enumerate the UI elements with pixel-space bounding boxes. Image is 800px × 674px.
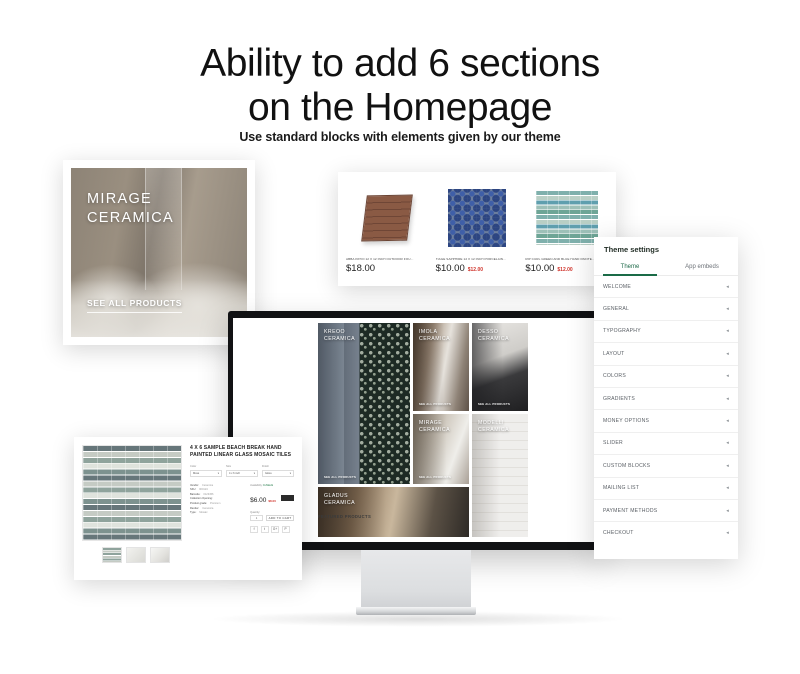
product-old-price: $12.00 (557, 267, 572, 273)
collection-title-line-1: KREOO (324, 329, 355, 336)
collection-title-line-1: DESSO (478, 329, 509, 336)
product-info: 4 X 6 SAMPLE BEACH BREAK HAND PAINTED LI… (190, 445, 294, 572)
collection-title-line-2: CERAMICA (419, 427, 450, 434)
collection-title: MODELLI CERAMICA (478, 420, 509, 434)
product-price-value: $18.00 (346, 263, 375, 274)
variant-value: Moss (193, 472, 199, 475)
hero-title-line-2: CERAMICA (87, 209, 174, 228)
collection-title-line-2: CERAMICA (324, 336, 355, 343)
variant-label: Color (190, 465, 222, 468)
headline-line-1: Ability to add 6 sections (0, 42, 800, 86)
variant-value: Gloss (265, 472, 272, 475)
collection-title: GLADUS CERAMICA (324, 493, 355, 507)
color-swatch[interactable] (281, 495, 294, 501)
variant-select-box[interactable]: 4 x 6 inch ▾ (226, 470, 258, 477)
settings-row-label: CUSTOM BLOCKS (603, 463, 650, 469)
facebook-icon[interactable]: f (250, 526, 258, 533)
settings-row-label: MAILING LIST (603, 485, 639, 491)
chevron-icon: ◂ (726, 284, 729, 290)
variant-select-box[interactable]: Moss ▾ (190, 470, 222, 477)
blue-mosaic-tile-icon (448, 189, 506, 247)
collection-tile-kreoo[interactable]: KREOO CERAMICA SEE ALL PRODUCTS (318, 323, 410, 484)
price-group: $6.00$8.00 (250, 489, 276, 507)
product-detail-card: 4 X 6 SAMPLE BEACH BREAK HAND PAINTED LI… (74, 437, 302, 580)
collection-title-line-1: IMOLA (419, 329, 450, 336)
product-image (346, 182, 429, 254)
product-body: Vendor:Ceramica SKU:000124 Barcode:01234… (190, 484, 294, 533)
collection-title-line-2: CERAMICA (419, 336, 450, 343)
promo-stage: Ability to add 6 sections on the Homepag… (0, 0, 800, 674)
settings-row-label: CHECKOUT (603, 530, 634, 536)
availability-row: Availability: In Stock (250, 484, 294, 487)
settings-row-general[interactable]: GENERAL◂ (594, 298, 738, 320)
settings-row-label: GENERAL (603, 306, 629, 312)
product-price: $18.00 (346, 263, 429, 274)
chevron-icon: ◂ (726, 418, 729, 424)
product-detail-price: $6.00 (250, 497, 266, 504)
variant-select-size[interactable]: Size 4 x 6 inch ▾ (226, 465, 258, 477)
theme-settings-panel: Theme settings Theme App embeds WELCOME◂… (594, 237, 738, 559)
collection-title: IMOLA CERAMICA (419, 329, 450, 343)
spec-row: Type:Mosaic (190, 511, 244, 516)
theme-settings-title: Theme settings (594, 237, 738, 259)
collection-see-all-link[interactable]: SEE ALL PRODUCTS (419, 475, 451, 479)
product-price: $10.00$12.00 (436, 263, 519, 274)
chevron-icon: ◂ (726, 463, 729, 469)
product-price-value: $10.00 (436, 263, 465, 274)
collection-title-line-2: CERAMICA (478, 427, 509, 434)
quantity-value: 1 (256, 516, 258, 520)
settings-row-gradients[interactable]: GRADIENTS◂ (594, 388, 738, 410)
featured-products-heading: FEATURED PRODUCTS (318, 514, 371, 519)
teal-glass-tile-icon (536, 191, 598, 245)
availability-value: In Stock (263, 484, 273, 487)
product-thumbnail[interactable] (102, 547, 122, 563)
theme-settings-list: WELCOME◂ GENERAL◂ TYPOGRAPHY◂ LAYOUT◂ CO… (594, 276, 738, 545)
settings-row-money-options[interactable]: MONEY OPTIONS◂ (594, 410, 738, 432)
variant-select-finish[interactable]: Finish Gloss ▾ (262, 465, 294, 477)
settings-row-checkout[interactable]: CHECKOUT◂ (594, 522, 738, 544)
google-plus-icon[interactable]: G+ (271, 526, 279, 533)
collection-grid: KREOO CERAMICA SEE ALL PRODUCTS IMOLA CE… (318, 323, 526, 507)
collection-title: KREOO CERAMICA (324, 329, 355, 343)
social-share-buttons: f t G+ P (250, 526, 294, 533)
settings-row-slider[interactable]: SLIDER◂ (594, 433, 738, 455)
hero-title-line-1: MIRAGE (87, 190, 174, 209)
chevron-down-icon: ▾ (290, 472, 291, 475)
collection-see-all-link[interactable]: SEE ALL PRODUCTS (419, 402, 451, 406)
product-variant-selects: Color Moss ▾ Size 4 x 6 inch ▾ Finish (190, 465, 294, 477)
variant-select-box[interactable]: Gloss ▾ (262, 470, 294, 477)
theme-settings-tabs: Theme App embeds (594, 259, 738, 276)
chevron-icon: ◂ (726, 373, 729, 379)
settings-row-typography[interactable]: TYPOGRAPHY◂ (594, 321, 738, 343)
variant-label: Finish (262, 465, 294, 468)
monitor-stand-base (356, 607, 476, 615)
product-card[interactable]: ABBA PATIO 12 X 12 INCH OUTDOOR FOU... $… (346, 182, 429, 280)
variant-label: Size (226, 465, 258, 468)
collection-tile-mirage[interactable]: MIRAGE CERAMICA SEE ALL PRODUCTS (413, 414, 469, 484)
tab-app-embeds[interactable]: App embeds (666, 259, 738, 275)
chevron-icon: ◂ (726, 351, 729, 357)
hero-banner-image: MIRAGE CERAMICA SEE ALL PRODUCTS (71, 168, 247, 337)
chevron-icon: ◂ (726, 530, 729, 536)
product-image (436, 182, 519, 254)
chevron-icon: ◂ (726, 306, 729, 312)
product-gallery (82, 445, 182, 572)
price-row: $6.00$8.00 (250, 489, 294, 507)
monitor-stand-neck (361, 550, 471, 609)
product-detail-old-price: $8.00 (268, 499, 276, 503)
product-card[interactable]: TIAGE SAPPHIRE 12 X 12 INCH PORCELAIN...… (436, 182, 519, 280)
settings-row-label: WELCOME (603, 284, 631, 290)
chevron-icon: ◂ (726, 485, 729, 491)
settings-row-label: PAYMENT METHODS (603, 508, 657, 514)
collection-tile-desso[interactable]: DESSO CERAMICA SEE ALL PRODUCTS (472, 323, 528, 411)
chevron-icon: ◂ (726, 328, 729, 334)
settings-row-welcome[interactable]: WELCOME◂ (594, 276, 738, 298)
collection-title-line-1: MIRAGE (419, 420, 450, 427)
collection-title-line-2: CERAMICA (324, 500, 355, 507)
collection-title: MIRAGE CERAMICA (419, 420, 450, 434)
collection-tile-imola[interactable]: IMOLA CERAMICA SEE ALL PRODUCTS (413, 323, 469, 411)
hero-banner-card[interactable]: MIRAGE CERAMICA SEE ALL PRODUCTS (63, 160, 255, 345)
product-main-image[interactable] (82, 445, 182, 541)
product-detail-title: 4 X 6 SAMPLE BEACH BREAK HAND PAINTED LI… (190, 445, 294, 458)
settings-row-colors[interactable]: COLORS◂ (594, 366, 738, 388)
collection-title-line-1: GLADUS (324, 493, 355, 500)
product-price-value: $10.00 (525, 263, 554, 274)
product-purchase-block: Availability: In Stock $6.00$8.00 Quanti… (250, 484, 294, 533)
spec-key: Type: (190, 511, 196, 516)
collection-title: DESSO CERAMICA (478, 329, 509, 343)
product-specs: Vendor:Ceramica SKU:000124 Barcode:01234… (190, 484, 244, 533)
spec-value: Mosaic (199, 511, 207, 516)
product-thumbnail[interactable] (150, 547, 170, 563)
chevron-down-icon: ▾ (218, 472, 219, 475)
cart-row: 1 ADD TO CART (250, 515, 294, 521)
page-title: Ability to add 6 sections on the Homepag… (0, 42, 800, 130)
quantity-stepper[interactable]: 1 (250, 515, 263, 521)
collection-see-all-link[interactable]: SEE ALL PRODUCTS (478, 402, 510, 406)
collection-tile-gladus[interactable]: GLADUS CERAMICA (318, 487, 469, 537)
collection-see-all-link[interactable]: SEE ALL PRODUCTS (324, 475, 356, 479)
availability-label: Availability: (250, 484, 262, 487)
chevron-icon: ◂ (726, 396, 729, 402)
product-old-price: $12.00 (468, 267, 483, 273)
settings-row-label: SLIDER (603, 440, 623, 446)
add-to-cart-button[interactable]: ADD TO CART (266, 515, 294, 521)
product-title: TIAGE SAPPHIRE 12 X 12 INCH PORCELAIN... (436, 257, 519, 262)
pinterest-icon[interactable]: P (282, 526, 290, 533)
chevron-down-icon: ▾ (254, 472, 255, 475)
twitter-icon[interactable]: t (261, 526, 269, 533)
product-thumbnails (82, 547, 182, 563)
hero-banner-title: MIRAGE CERAMICA (87, 190, 174, 228)
settings-row-label: MONEY OPTIONS (603, 418, 649, 424)
settings-row-payment-methods[interactable]: PAYMENT METHODS◂ (594, 500, 738, 522)
settings-row-custom-blocks[interactable]: CUSTOM BLOCKS◂ (594, 455, 738, 477)
settings-row-label: COLORS (603, 373, 626, 379)
variant-select-color[interactable]: Color Moss ▾ (190, 465, 222, 477)
collection-title-line-2: CERAMICA (478, 336, 509, 343)
wood-deck-tile-icon (362, 195, 414, 242)
variant-value: 4 x 6 inch (229, 472, 240, 475)
chevron-icon: ◂ (726, 508, 729, 514)
featured-products-strip: ABBA PATIO 12 X 12 INCH OUTDOOR FOU... $… (338, 172, 616, 286)
product-thumbnail[interactable] (126, 547, 146, 563)
collection-tile-modelli[interactable]: MODELLI CERAMICA (472, 414, 528, 537)
settings-row-label: TYPOGRAPHY (603, 328, 641, 334)
chevron-icon: ◂ (726, 440, 729, 446)
settings-row-mailing-list[interactable]: MAILING LIST◂ (594, 478, 738, 500)
product-title: ABBA PATIO 12 X 12 INCH OUTDOOR FOU... (346, 257, 429, 262)
quantity-label: Quantity: (250, 511, 294, 514)
collection-title-line-1: MODELLI (478, 420, 509, 427)
settings-row-label: LAYOUT (603, 351, 625, 357)
headline-line-2: on the Homepage (0, 86, 800, 130)
settings-row-label: GRADIENTS (603, 396, 635, 402)
page-subtitle: Use standard blocks with elements given … (0, 130, 800, 144)
hero-see-all-products-link[interactable]: SEE ALL PRODUCTS (87, 298, 182, 313)
tab-theme[interactable]: Theme (594, 259, 666, 275)
settings-row-layout[interactable]: LAYOUT◂ (594, 343, 738, 365)
